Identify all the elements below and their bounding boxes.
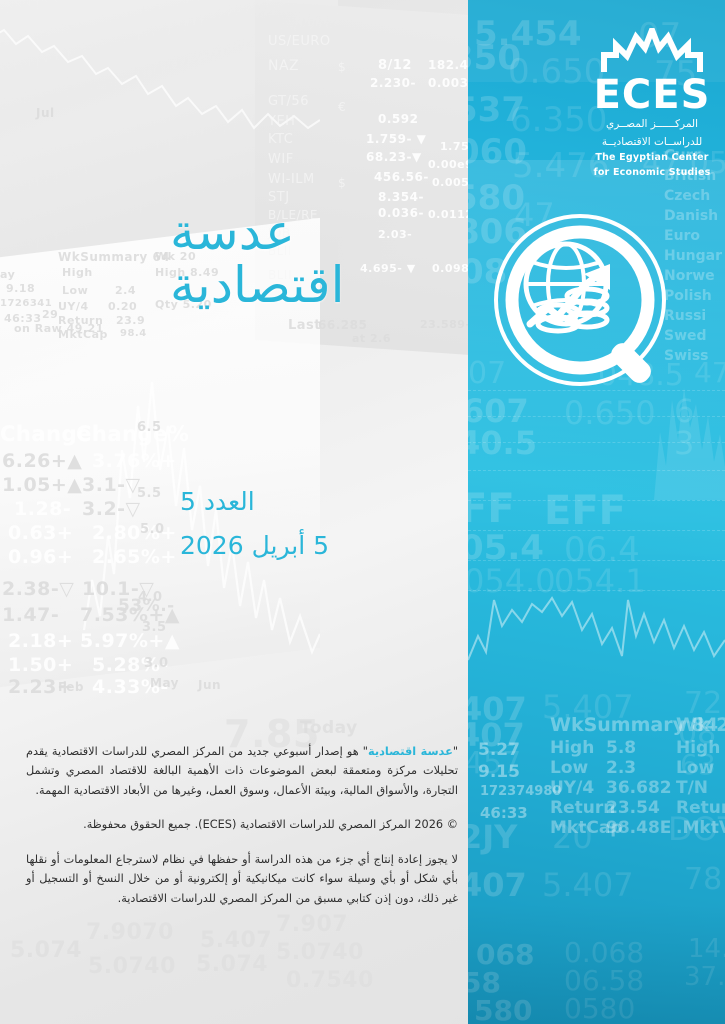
magnifier-globe-coins-icon [492,212,677,397]
teal-bottom-shadow [468,904,725,1024]
title-line-2: اقتصادية [170,259,460,312]
title-line-1: عدسة [170,206,460,259]
footer-rights-paragraph: لا يجوز إعادة إنتاج أي جزء من هذه الدراس… [26,850,458,908]
issue-date: 5 أبريل 2026 [180,524,450,568]
issue-number: العدد 5 [180,480,450,524]
eces-logo: ECES المركــــــز المصــري للدراســات ال… [592,28,712,180]
logo-arabic-line1: المركــــــز المصــري [592,117,712,132]
issue-info: العدد 5 5 أبريل 2026 [180,480,450,568]
logo-english-line1: The Egyptian Center [592,152,712,165]
logo-english-line2: for Economic Studies [592,167,712,180]
footer-copyright: © 2026 المركز المصري للدراسات الاقتصادية… [26,815,458,834]
logo-acronym: ECES [592,76,712,114]
logo-arabic-line2: للدراســات الاقتصاديــة [592,135,712,150]
footer-intro-paragraph: "عدسة اقتصادية" هو إصدار أسبوعي جديد من … [26,742,458,800]
crown-icon [600,28,704,74]
publication-name-highlight: عدسة اقتصادية [368,745,453,758]
page-title: عدسة اقتصادية [170,206,460,312]
quote-open: " [453,745,458,758]
magazine-cover-page: US/EURO NAZ $ 8/12 182.492 -2.230 -0.003… [0,0,725,1024]
footer-text-block: "عدسة اقتصادية" هو إصدار أسبوعي جديد من … [26,742,458,908]
